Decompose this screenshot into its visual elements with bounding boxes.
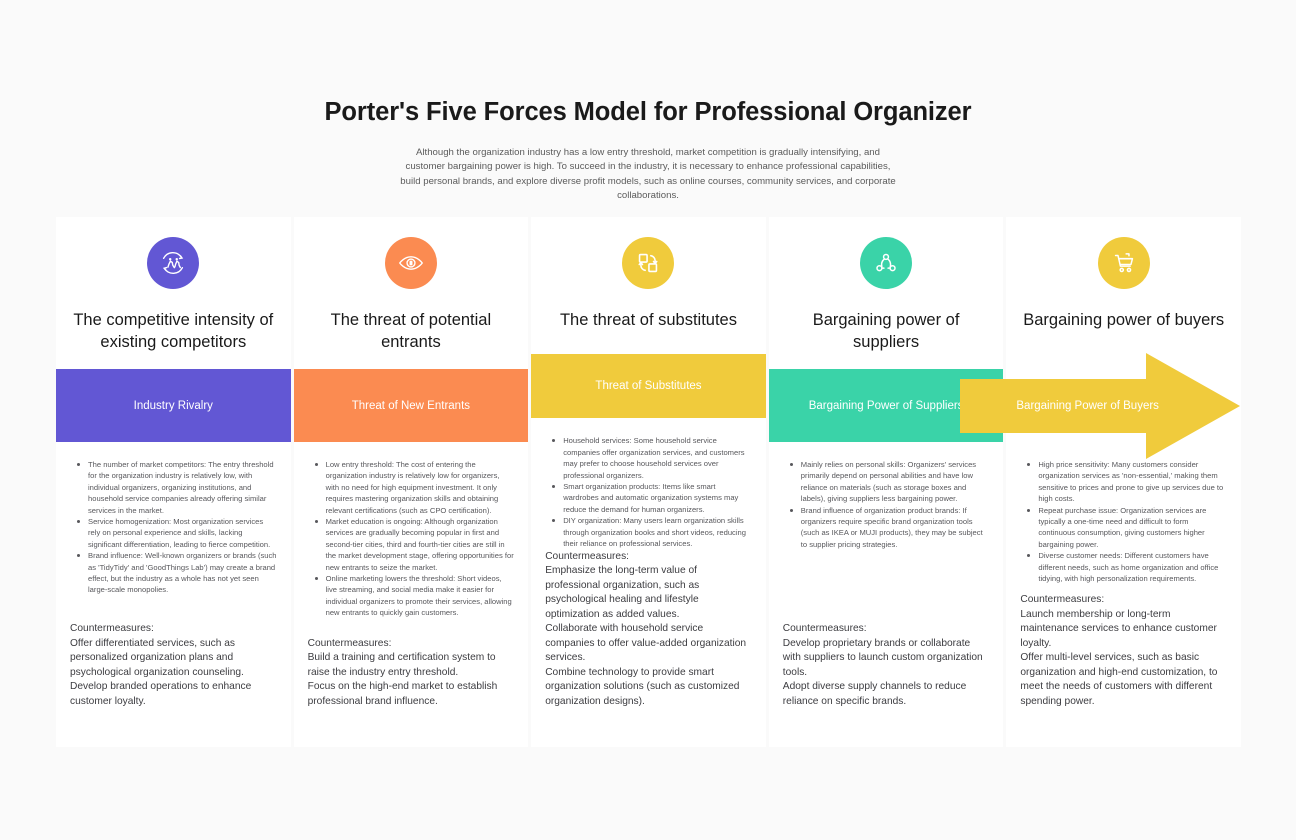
list-item: Online marketing lowers the threshold: S…: [312, 573, 515, 619]
page-title: Porter's Five Forces Model for Professio…: [0, 98, 1296, 127]
force-countermeasures: Countermeasures: Offer differentiated se…: [70, 622, 277, 737]
list-item: The number of market competitors: The en…: [74, 459, 277, 516]
force-header: Bargaining power of buyers: [1006, 217, 1241, 369]
force-band-label: Bargaining Power of Suppliers: [809, 400, 964, 412]
list-item: Household services: Some household servi…: [549, 435, 752, 481]
force-points-list: The number of market competitors: The en…: [74, 459, 277, 596]
force-heading: The threat of potential entrants: [294, 309, 529, 353]
list-item: Market education is ongoing: Although or…: [312, 516, 515, 573]
network-nodes-icon: [860, 237, 912, 289]
force-countermeasures: Countermeasures: Emphasize the long-term…: [545, 550, 752, 738]
list-item: Brand influence of organization product …: [787, 505, 990, 551]
porters-five-forces-page: Porter's Five Forces Model for Professio…: [0, 0, 1296, 840]
force-points-list: High price sensitivity: Many customers c…: [1024, 459, 1227, 584]
list-item: Low entry threshold: The cost of enterin…: [312, 459, 515, 516]
force-band: Threat of New Entrants: [294, 369, 529, 442]
force-body: Mainly relies on personal skills: Organi…: [769, 442, 1004, 747]
force-band-label: Threat of Substitutes: [595, 380, 701, 392]
force-body: The number of market competitors: The en…: [56, 442, 291, 747]
force-points-list: Household services: Some household servi…: [549, 435, 752, 549]
list-item: Smart organization products: Items like …: [549, 481, 752, 515]
force-band-label: Threat of New Entrants: [352, 400, 470, 412]
force-header: The competitive intensity of existing co…: [56, 217, 291, 369]
list-item: Mainly relies on personal skills: Organi…: [787, 459, 990, 505]
list-item: Service homogenization: Most organizatio…: [74, 516, 277, 550]
force-column-suppliers[interactable]: Bargaining power of suppliers Bargaining…: [769, 217, 1004, 747]
force-countermeasures: Countermeasures: Launch membership or lo…: [1020, 593, 1227, 737]
force-heading: Bargaining power of suppliers: [769, 309, 1004, 353]
force-band-label: Industry Rivalry: [134, 400, 213, 412]
competitors-running-icon: [147, 237, 199, 289]
force-column-buyers[interactable]: Bargaining power of buyers Bargaining Po…: [1006, 217, 1241, 747]
force-column-substitutes[interactable]: The threat of substitutes Threat of Subs…: [531, 217, 766, 747]
force-header: The threat of potential entrants: [294, 217, 529, 369]
force-band: Industry Rivalry: [56, 369, 291, 442]
force-column-industry-rivalry[interactable]: The competitive intensity of existing co…: [56, 217, 291, 747]
list-item: DIY organization: Many users learn organ…: [549, 515, 752, 549]
force-points-list: Low entry threshold: The cost of enterin…: [312, 459, 515, 619]
force-column-new-entrants[interactable]: The threat of potential entrants Threat …: [294, 217, 529, 747]
force-heading: Bargaining power of buyers: [1013, 309, 1234, 331]
force-body: Low entry threshold: The cost of enterin…: [294, 442, 529, 747]
force-heading: The threat of substitutes: [550, 309, 747, 331]
page-subtitle: Although the organization industry has a…: [398, 146, 898, 203]
swap-squares-icon: [622, 237, 674, 289]
force-header: Bargaining power of suppliers: [769, 217, 1004, 369]
force-band-arrow: Bargaining Power of Buyers: [1006, 369, 1241, 442]
eye-icon: [385, 237, 437, 289]
force-band-label: Bargaining Power of Buyers: [1016, 400, 1159, 412]
list-item: Diverse customer needs: Different custom…: [1024, 550, 1227, 584]
force-heading: The competitive intensity of existing co…: [56, 309, 291, 353]
forces-grid: The competitive intensity of existing co…: [56, 217, 1241, 747]
list-item: Brand influence: Well-known organizers o…: [74, 550, 277, 596]
list-item: High price sensitivity: Many customers c…: [1024, 459, 1227, 505]
force-header: The threat of substitutes: [531, 217, 766, 354]
force-countermeasures: Countermeasures: Develop proprietary bra…: [783, 622, 990, 737]
force-body: High price sensitivity: Many customers c…: [1006, 442, 1241, 747]
force-band: Threat of Substitutes: [531, 354, 766, 419]
force-countermeasures: Countermeasures: Build a training and ce…: [308, 637, 515, 738]
shopping-cart-icon: [1098, 237, 1150, 289]
force-body: Household services: Some household servi…: [531, 418, 766, 747]
force-points-list: Mainly relies on personal skills: Organi…: [787, 459, 990, 550]
list-item: Repeat purchase issue: Organization serv…: [1024, 505, 1227, 551]
